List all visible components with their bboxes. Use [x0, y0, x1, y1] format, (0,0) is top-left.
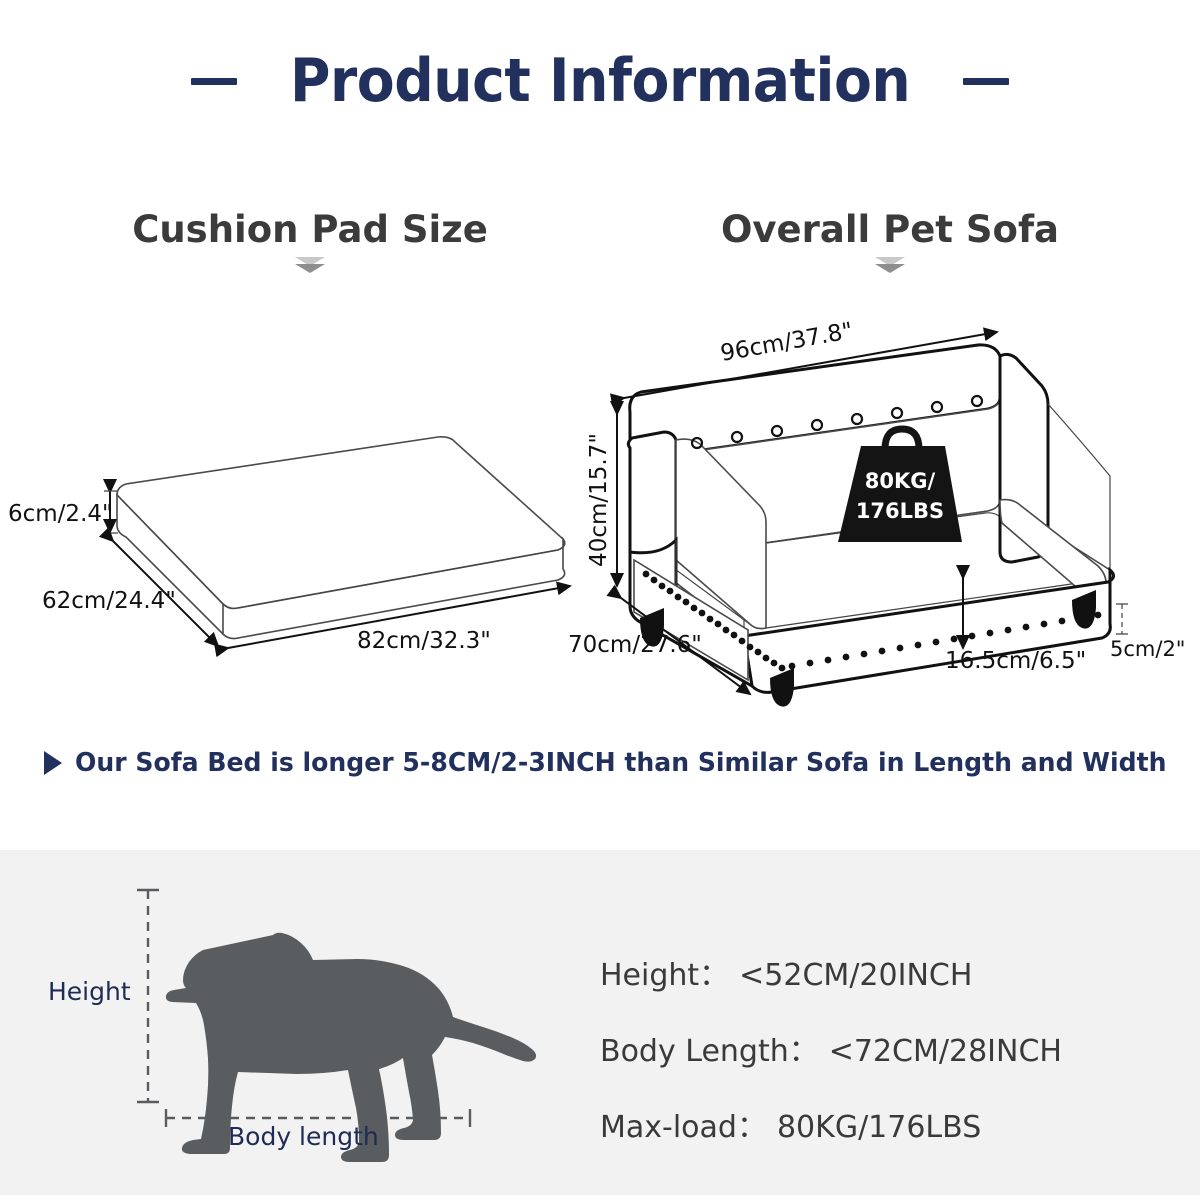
section-header-cushion: Cushion Pad Size: [110, 208, 510, 279]
spec-row-max-load: Max-load：80KG/176LBS: [600, 1102, 1160, 1146]
sofa-depth-label: 70cm/27.6": [568, 632, 702, 658]
title-dash-right: [963, 78, 1009, 85]
cushion-dim-thickness: 6cm/2.4": [8, 491, 118, 533]
height-label: Height: [48, 977, 131, 1006]
section-title-sofa: Overall Pet Sofa: [690, 208, 1090, 251]
sofa-width-label: 96cm/37.8": [719, 318, 855, 367]
sofa-dim-width: 96cm/37.8": [624, 318, 997, 398]
cushion-dim-width: 82cm/32.3": [228, 586, 570, 654]
cushion-pad-drawing: [117, 437, 565, 639]
nailhead-studs-front: [789, 612, 1102, 670]
page-title: Product Information: [290, 46, 910, 116]
sofa-dim-height: 40cm/15.7": [586, 414, 617, 586]
backrest-buttons: [692, 396, 982, 448]
section-header-sofa: Overall Pet Sofa: [690, 208, 1090, 279]
title-dash-left: [191, 78, 237, 85]
section-title-cushion: Cushion Pad Size: [110, 208, 510, 251]
spec-value-max-load: 80KG/176LBS: [777, 1110, 981, 1145]
sofa-leg-height-label: 5cm/2": [1110, 637, 1185, 661]
cushion-width-label: 82cm/32.3": [357, 628, 491, 654]
weight-tag-line1: 80KG/: [865, 469, 936, 493]
sofa-dim-depth: 70cm/27.6": [568, 598, 750, 694]
cushion-thickness-label: 6cm/2.4": [8, 501, 113, 527]
cushion-dim-depth: 62cm/24.4": [42, 541, 218, 646]
body-length-label: Body length: [228, 1122, 379, 1151]
sofa-seat-height-label: 16.5cm/6.5": [945, 648, 1086, 674]
triangle-right-icon: [44, 751, 62, 775]
sofa-leg-front-left: [770, 668, 794, 707]
spec-row-body-length: Body Length：<72CM/28INCH: [600, 1026, 1160, 1070]
highlight-banner-text: Our Sofa Bed is longer 5-8CM/2-3INCH tha…: [75, 748, 1166, 778]
spec-label-body-length: Body Length：: [600, 1034, 819, 1069]
page-title-row: Product Information: [0, 46, 1200, 116]
sofa-height-label: 40cm/15.7": [586, 433, 612, 567]
sofa-leg-front-right: [1072, 590, 1096, 629]
spec-row-height: Height：<52CM/20INCH: [600, 950, 1160, 994]
weight-tag-line2: 176LBS: [856, 499, 944, 523]
weight-tag-icon: 80KG/ 176LBS: [838, 429, 962, 542]
spec-label-height: Height：: [600, 958, 729, 993]
spec-list: Height：<52CM/20INCH Body Length：<72CM/28…: [600, 950, 1160, 1178]
nailhead-studs-left: [643, 571, 786, 672]
height-measure-line: [137, 890, 159, 1102]
spec-value-height: <52CM/20INCH: [739, 958, 972, 993]
spec-value-body-length: <72CM/28INCH: [829, 1034, 1062, 1069]
sofa-dim-seat-height: 16.5cm/6.5": [945, 578, 1086, 674]
cushion-depth-label: 62cm/24.4": [42, 588, 176, 614]
chevron-down-icon: [875, 257, 905, 279]
sofa-leg-back-left: [640, 608, 664, 647]
pet-sofa-drawing: [628, 345, 1113, 707]
chevron-down-icon: [295, 257, 325, 279]
highlight-banner: Our Sofa Bed is longer 5-8CM/2-3INCH tha…: [44, 748, 1174, 778]
sofa-dim-leg-height: 5cm/2": [1110, 604, 1185, 661]
spec-label-max-load: Max-load：: [600, 1110, 767, 1145]
